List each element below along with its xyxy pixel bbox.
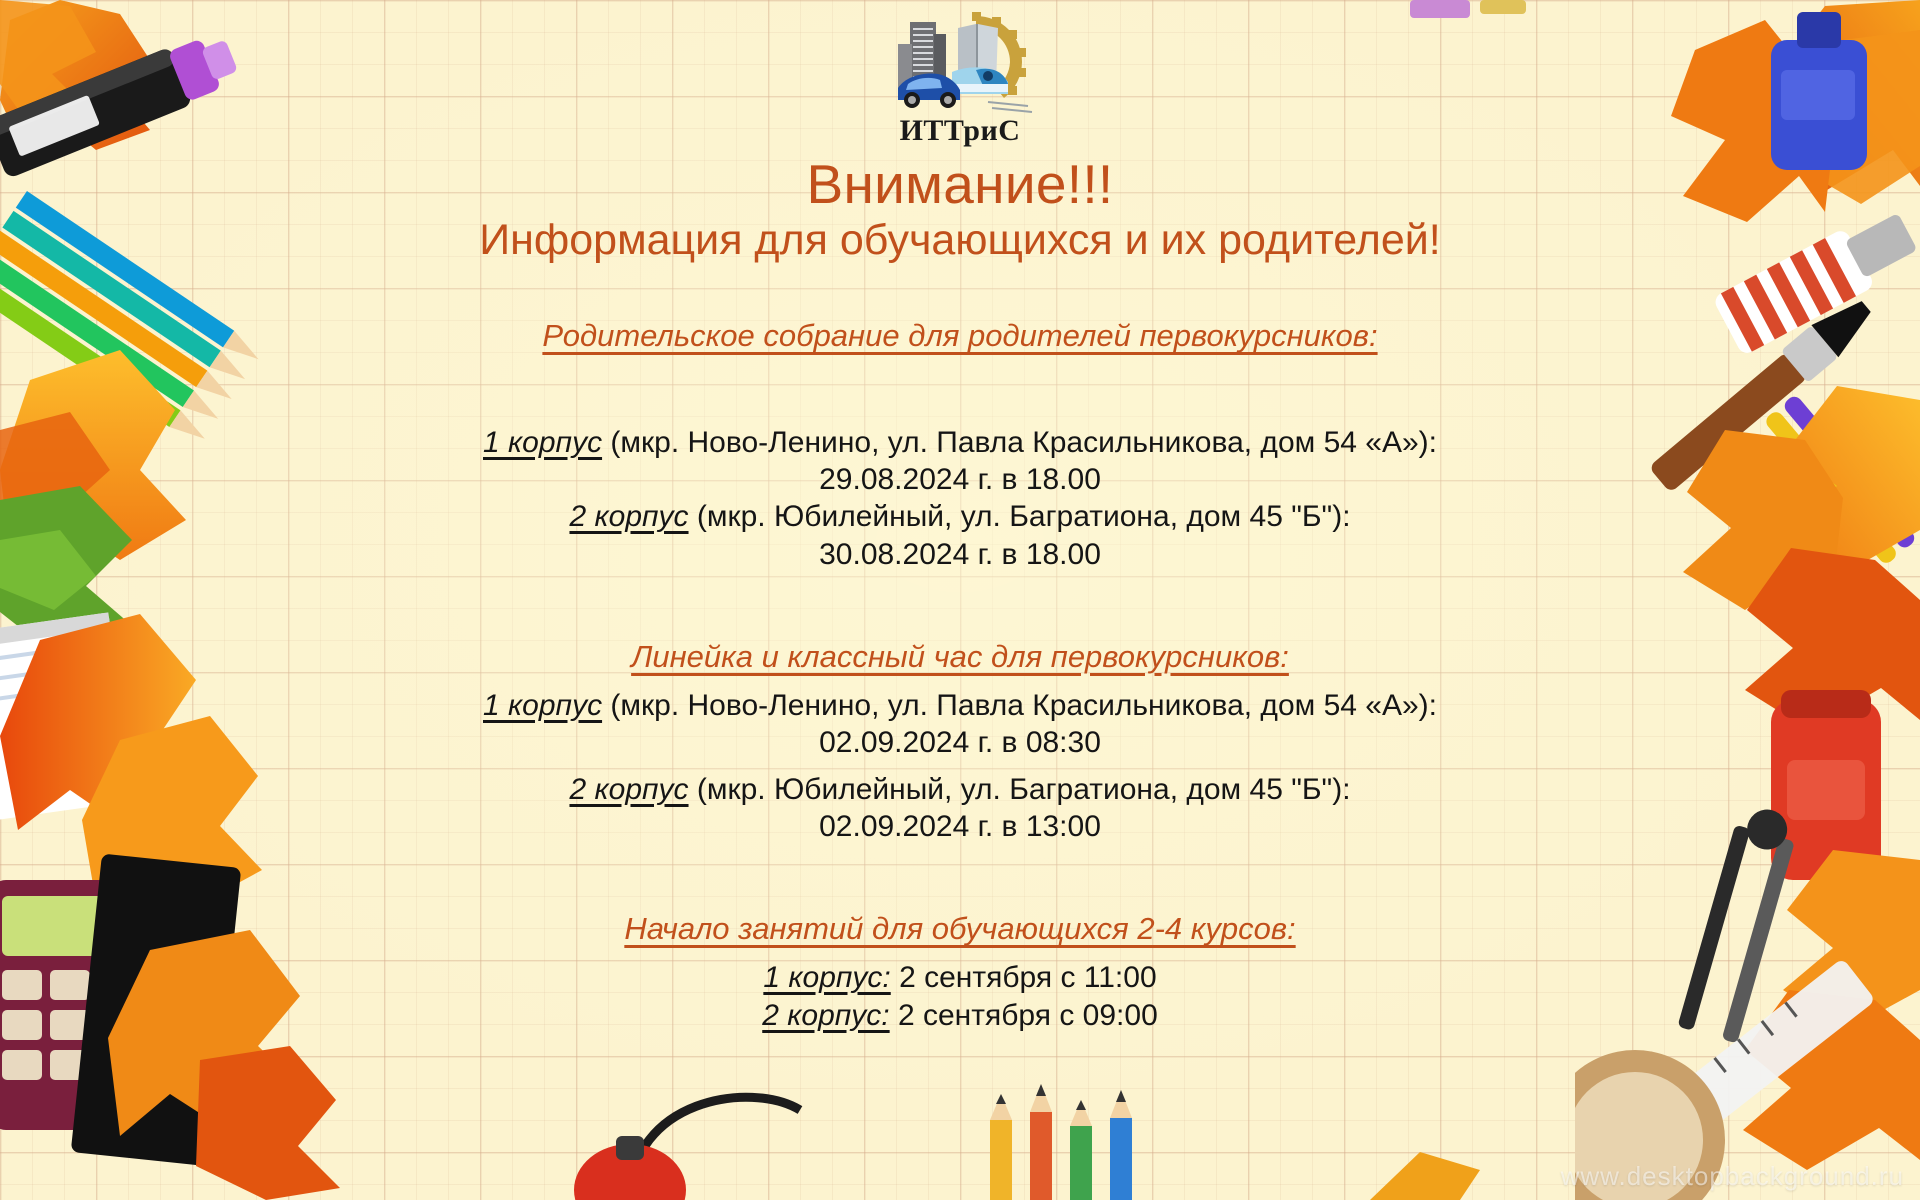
entry-line-2-2: 2 корпус (мкр. Юбилейный, ул. Багратиона… bbox=[330, 771, 1590, 808]
spacer bbox=[330, 264, 1590, 318]
entry-datetime-1-1: 29.08.2024 г. в 18.00 bbox=[330, 461, 1590, 498]
spacer bbox=[330, 675, 1590, 687]
entry-line-1-2: 2 корпус (мкр. Юбилейный, ул. Багратиона… bbox=[330, 498, 1590, 535]
section-title-1: Родительское собрание для родителей перв… bbox=[330, 318, 1590, 354]
spacer bbox=[330, 354, 1590, 424]
spacer bbox=[330, 761, 1590, 771]
spacer bbox=[330, 845, 1590, 911]
building-label: 1 корпус bbox=[483, 689, 602, 722]
poster-content: ИТТриС Внимание!!! Информация для обучаю… bbox=[330, 0, 1590, 1200]
watermark: www.desktopbackground.ru bbox=[1561, 1161, 1904, 1192]
entry-datetime-2-2: 02.09.2024 г. в 13:00 bbox=[330, 808, 1590, 845]
spacer bbox=[330, 573, 1590, 639]
ittris-emblem-icon bbox=[880, 10, 1040, 118]
spacer bbox=[330, 947, 1590, 959]
building-label: 1 корпус bbox=[483, 426, 602, 459]
page-subtitle: Информация для обучающихся и их родителе… bbox=[330, 217, 1590, 264]
entry-line-3-2: 2 корпус: 2 сентября с 09:00 bbox=[330, 997, 1590, 1034]
building-address: (мкр. Ново-Ленино, ул. Павла Красильнико… bbox=[602, 426, 1437, 459]
section-title-3: Начало занятий для обучающихся 2-4 курсо… bbox=[330, 911, 1590, 947]
page-title-attention: Внимание!!! bbox=[330, 156, 1590, 213]
section-title-2: Линейка и классный час для первокурснико… bbox=[330, 639, 1590, 675]
building-label: 2 корпус bbox=[569, 773, 688, 806]
logo-block: ИТТриС bbox=[330, 10, 1590, 150]
entry-line-1-1: 1 корпус (мкр. Ново-Ленино, ул. Павла Кр… bbox=[330, 424, 1590, 461]
entry-datetime-2-1: 02.09.2024 г. в 08:30 bbox=[330, 724, 1590, 761]
entry-line-3-1: 1 корпус: 2 сентября с 11:00 bbox=[330, 959, 1590, 996]
entry-datetime-1-2: 30.08.2024 г. в 18.00 bbox=[330, 536, 1590, 573]
building-label: 1 корпус: bbox=[763, 961, 890, 994]
building-label: 2 корпус bbox=[569, 500, 688, 533]
building-label: 2 корпус: bbox=[762, 999, 889, 1032]
building-address: (мкр. Юбилейный, ул. Багратиона, дом 45 … bbox=[689, 500, 1351, 533]
building-address: (мкр. Юбилейный, ул. Багратиона, дом 45 … bbox=[689, 773, 1351, 806]
building-schedule: 2 сентября с 09:00 bbox=[890, 999, 1158, 1032]
building-schedule: 2 сентября с 11:00 bbox=[891, 961, 1157, 994]
logo-wordmark: ИТТриС bbox=[330, 114, 1590, 148]
building-address: (мкр. Ново-Ленино, ул. Павла Красильнико… bbox=[602, 689, 1437, 722]
entry-line-2-1: 1 корпус (мкр. Ново-Ленино, ул. Павла Кр… bbox=[330, 687, 1590, 724]
